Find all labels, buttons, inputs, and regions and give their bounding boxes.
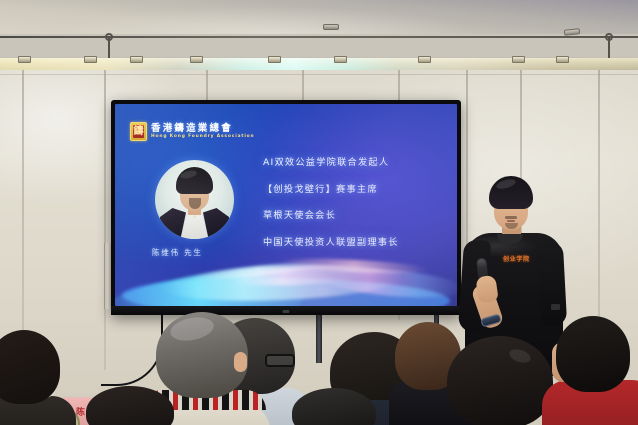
track-clip [84,56,97,63]
association-logo: 鑄 香港鑄造業總會 Hong Kong Foundry Association [130,122,255,141]
attendee-head [0,330,60,404]
eyeglasses-icon [265,354,295,367]
presenter-mouth [507,220,515,222]
track-hanger [108,36,110,58]
credential-line-3: 草根天使会会长 [263,207,399,221]
slide-canvas: 鑄 香港鑄造業總會 Hong Kong Foundry Association [115,104,457,306]
attendee-foreground-mid [292,388,378,425]
tv-brand-mark [283,310,290,313]
attendee-head [447,336,553,425]
ceiling-spotlight-icon [323,24,339,30]
credential-line-2: 【创投戈壁行】赛事主席 [263,181,399,195]
attendee-foreground-left [86,386,178,425]
ceiling-light-wash [0,0,638,34]
foundry-seal-icon: 鑄 [130,122,147,141]
attendee-front-left [0,330,66,425]
attendee-red-shirt [556,316,638,425]
ceiling-spotlight-icon [564,28,581,36]
track-clip [18,56,31,63]
track-clip [130,56,143,63]
association-name-cn: 香港鑄造業總會 [151,124,255,134]
wall-panel-seam [22,70,24,370]
track-clip [268,56,281,63]
portrait-beard [189,198,201,209]
tv-stand-column [316,315,322,363]
portrait-pendant [193,215,196,218]
track-hanger [608,36,610,58]
track-clip [512,56,525,63]
credential-line-1: AI双效公益学院联合发起人 [263,154,399,168]
portrait-hair [176,167,213,194]
track-clip [334,56,347,63]
conference-room-photo: 鑄 香港鑄造業總會 Hong Kong Foundry Association [0,0,638,425]
presentation-screen[interactable]: 鑄 香港鑄造業總會 Hong Kong Foundry Association [111,100,461,315]
ceiling-support-wire [0,36,638,38]
track-clip [556,56,569,63]
presenter-shirt-tag [551,304,560,310]
track-clip [418,56,431,63]
attendee-ear [234,352,247,372]
attendee-head [556,316,630,392]
presenter-right-sleeve [537,241,567,326]
association-name-en: Hong Kong Foundry Association [151,135,255,139]
track-clip [190,56,203,63]
attendee-head [86,386,174,425]
presenter-shirt-logo: 创业学院 [503,254,530,263]
presenter-moustache [505,216,517,219]
attendee-head [292,388,376,425]
wall-panel-seam [0,74,638,75]
foundry-seal-glyph: 鑄 [134,127,144,137]
presenter-hair [489,176,533,209]
slide-wave-graphic [115,228,457,306]
presenter-chin-beard [505,223,518,229]
